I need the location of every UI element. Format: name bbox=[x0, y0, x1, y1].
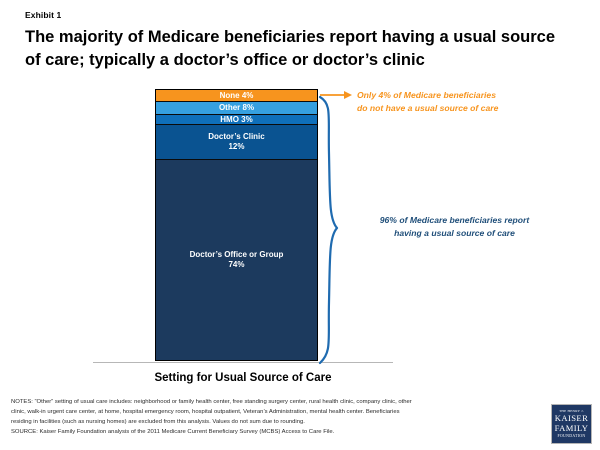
footer-notes-line-3: residing in facilities (such as nursing … bbox=[11, 418, 536, 428]
logo-foundation-text: FOUNDATION bbox=[557, 435, 585, 439]
bar-segment-doctors-clinic[interactable]: Doctor’s Clinic 12% bbox=[156, 124, 317, 159]
curly-brace-icon bbox=[316, 94, 350, 366]
none-callout-line2: do not have a usual source of care bbox=[357, 102, 557, 115]
bar-segment-none[interactable]: None 4% bbox=[156, 90, 317, 101]
footer-notes-line-2: clinic, walk-in urgent care center, at h… bbox=[11, 408, 536, 418]
logo-kaiser-text: KAISER bbox=[555, 414, 588, 423]
usual-callout-line2: having a usual source of care bbox=[352, 227, 557, 240]
footer-notes-line-1: NOTES: “Other” setting of usual care inc… bbox=[11, 398, 536, 408]
bar-segment-doctors-clinic-value: 12% bbox=[228, 142, 244, 152]
bar-segment-doctors-clinic-label: Doctor’s Clinic bbox=[208, 132, 264, 142]
none-callout-line1: Only 4% of Medicare beneficiaries bbox=[357, 89, 557, 102]
footer-notes: NOTES: “Other” setting of usual care inc… bbox=[11, 398, 536, 438]
bar-segment-none-label: None 4% bbox=[220, 91, 254, 101]
bar-segment-doctors-office-value: 74% bbox=[228, 260, 244, 270]
bar-segment-doctors-office-label: Doctor’s Office or Group bbox=[190, 250, 284, 260]
logo-top-text: THE HENRY J. bbox=[559, 410, 584, 413]
chart-area: None 4% Other 8% HMO 3% Doctor’s Clinic … bbox=[0, 0, 600, 400]
usual-source-callout-text: 96% of Medicare beneficiaries report hav… bbox=[352, 214, 557, 241]
none-callout-text: Only 4% of Medicare beneficiaries do not… bbox=[357, 89, 557, 116]
bar-segment-hmo-label: HMO 3% bbox=[220, 115, 252, 125]
bar-segment-doctors-office[interactable]: Doctor’s Office or Group 74% bbox=[156, 159, 317, 360]
x-axis-title: Setting for Usual Source of Care bbox=[93, 372, 393, 384]
bar-segment-hmo[interactable]: HMO 3% bbox=[156, 114, 317, 124]
logo-family-text: FAMILY bbox=[555, 424, 589, 433]
bar-segment-other-label: Other 8% bbox=[219, 103, 254, 113]
bar-segment-other[interactable]: Other 8% bbox=[156, 101, 317, 114]
stacked-bar-chart: None 4% Other 8% HMO 3% Doctor’s Clinic … bbox=[155, 89, 318, 361]
kaiser-family-foundation-logo: THE HENRY J. KAISER FAMILY FOUNDATION bbox=[551, 404, 592, 444]
usual-callout-line1: 96% of Medicare beneficiaries report bbox=[352, 214, 557, 227]
footer-source-line: SOURCE: Kaiser Family Foundation analysi… bbox=[11, 428, 536, 438]
